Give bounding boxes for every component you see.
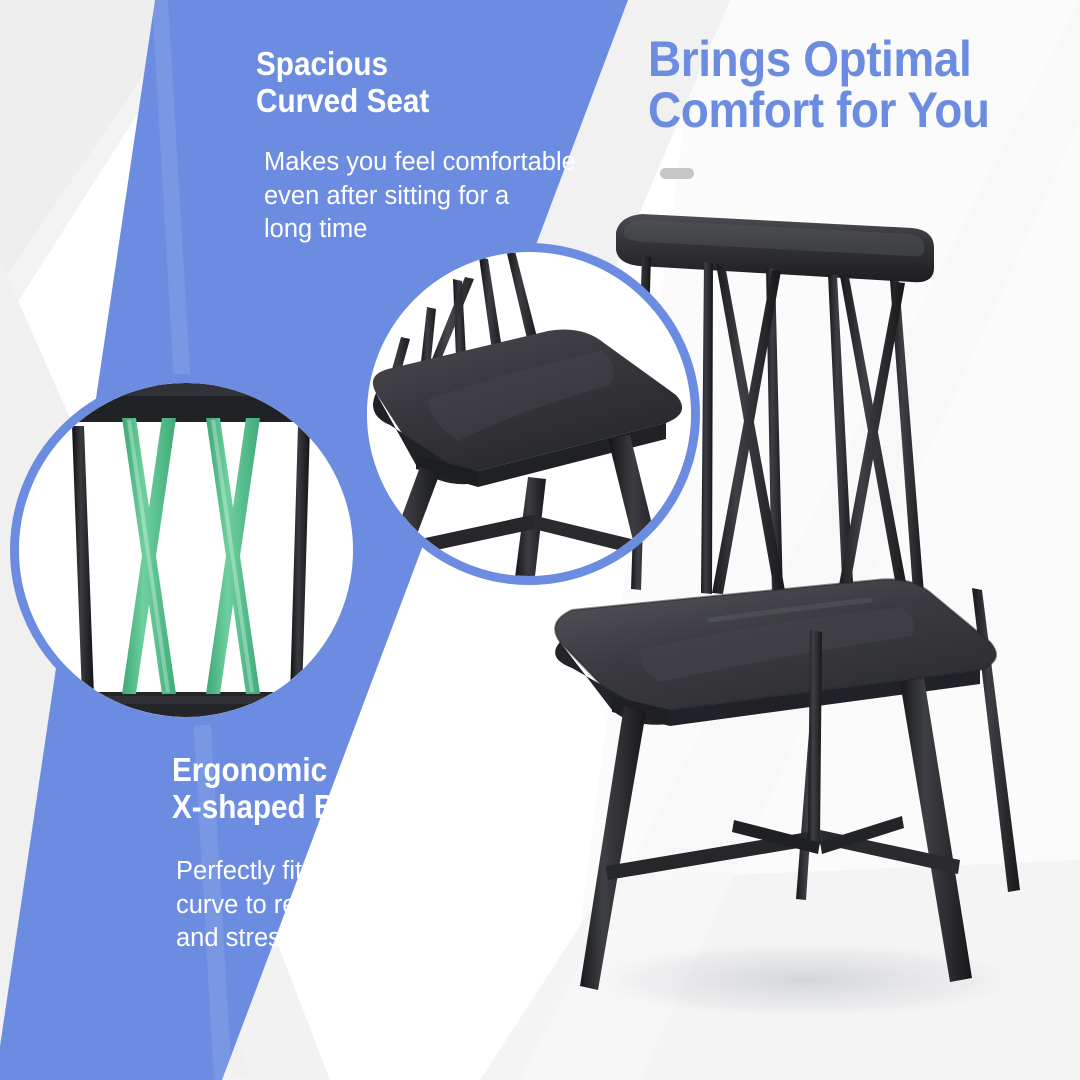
feature-title-spacious-curved-seat: Spacious Curved Seat (256, 46, 429, 120)
headline-line-2: Comfort for You (648, 85, 1044, 136)
callout-circle-curved-seat (358, 243, 700, 585)
feature-title-ergonomic-x-shaped-backrest: Ergonomic X-shaped Backrest (172, 752, 439, 826)
feature1-body-line-2: even after sitting for a (264, 180, 644, 214)
feature2-title-line-1: Ergonomic (172, 752, 439, 789)
chair-front-right-leg (900, 678, 972, 982)
feature1-body-line-1: Makes you feel comfortable (264, 146, 644, 180)
feature2-body-line-3: and stress (176, 922, 506, 956)
page-headline: Brings Optimal Comfort for You (648, 34, 1044, 136)
feature2-title-line-2: X-shaped Backrest (172, 789, 439, 826)
backrest-closeup-seat-highlight (86, 696, 300, 704)
backrest-closeup-graphic (10, 374, 362, 726)
feature1-title-line-2: Curved Seat (256, 83, 429, 120)
infographic-canvas: Brings Optimal Comfort for You Spacious … (0, 0, 1080, 1080)
feature1-body-line-3: long time (264, 213, 644, 247)
chair-center-back-leg (808, 630, 822, 842)
feature-body-ergonomic-x-shaped-backrest: Perfectly fits your body curve to reliev… (176, 855, 506, 956)
feature2-body-line-1: Perfectly fits your body (176, 855, 506, 889)
headline-line-1: Brings Optimal (648, 34, 1044, 85)
chair-spindle-2 (701, 262, 713, 594)
chair-front-left-leg (580, 706, 646, 990)
chair-floor-shadow (570, 938, 1040, 1022)
feature-body-spacious-curved-seat: Makes you feel comfortable even after si… (264, 146, 644, 247)
feature2-body-line-2: curve to relieve fatigue (176, 889, 506, 923)
headline-underline-dash (660, 168, 694, 179)
backrest-closeup-rail-highlight (76, 384, 304, 396)
seat-closeup-graphic (358, 243, 700, 585)
backrest-closeup-bg (10, 374, 362, 726)
callout-circle-x-backrest (10, 374, 362, 726)
feature1-title-line-1: Spacious (256, 46, 429, 83)
